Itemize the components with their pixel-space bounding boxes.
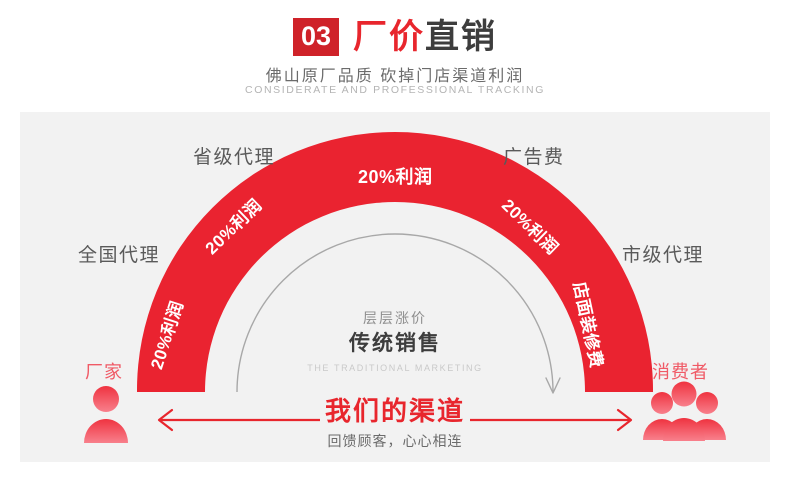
center-small-text: 层层涨价 (295, 308, 495, 328)
consumer-people-icon (643, 382, 726, 442)
label-national-agent: 全国代理 (78, 240, 160, 267)
infographic-root: 03 厂价直销 佛山原厂品质 砍掉门店渠道利润 CONSIDERATE AND … (0, 0, 790, 479)
our-channel-subtitle: 回馈顾客，心心相连 (275, 431, 515, 451)
label-manufacturer: 厂家 (85, 358, 123, 384)
center-big-text: 传统销售 (295, 328, 495, 360)
center-text-block: 层层涨价 传统销售 THE TRADITIONAL MARKETING (295, 308, 495, 373)
manufacturer-person-icon (84, 386, 128, 443)
label-consumer: 消费者 (652, 358, 709, 384)
our-channel-title: 我们的渠道 (275, 396, 515, 427)
center-english-text: THE TRADITIONAL MARKETING (295, 363, 495, 373)
bottom-text-block: 我们的渠道 回馈顾客，心心相连 (275, 396, 515, 451)
label-provincial-agent: 省级代理 (193, 142, 275, 169)
arc-label-top: 20%利润 (358, 163, 433, 189)
label-advertising-fee: 广告费 (503, 142, 565, 169)
label-city-agent: 市级代理 (622, 240, 704, 267)
